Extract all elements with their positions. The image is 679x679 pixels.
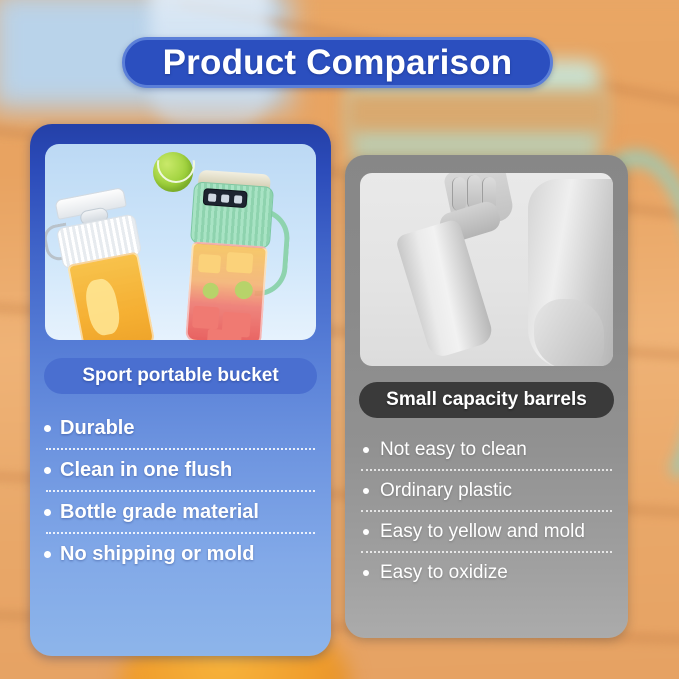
fruit-piece bbox=[192, 306, 219, 330]
list-item: Clean in one flush bbox=[44, 450, 317, 490]
list-item: Ordinary plastic bbox=[359, 471, 614, 510]
page-title-banner: Product Comparison bbox=[122, 37, 553, 88]
feature-list-small-capacity-barrels: Not easy to clean Ordinary plastic Easy … bbox=[355, 430, 618, 638]
green-blender-bottle bbox=[177, 169, 281, 340]
fruit-piece bbox=[202, 282, 219, 299]
comparison-card-sport-portable-bucket: Sport portable bucket Durable Clean in o… bbox=[30, 124, 331, 656]
product-name-pill-left: Sport portable bucket bbox=[44, 358, 317, 394]
fruit-piece bbox=[234, 281, 253, 300]
product-photo-small-capacity-barrels bbox=[360, 173, 613, 366]
list-item: Easy to oxidize bbox=[359, 553, 614, 592]
feature-text: Not easy to clean bbox=[380, 439, 527, 461]
product-name-left: Sport portable bucket bbox=[82, 365, 278, 387]
feature-text: No shipping or mold bbox=[60, 543, 254, 566]
sleeve-shape bbox=[528, 179, 613, 366]
feature-text: Clean in one flush bbox=[60, 459, 232, 482]
comparison-card-small-capacity-barrels: Small capacity barrels Not easy to clean… bbox=[345, 155, 628, 638]
bullet-icon bbox=[44, 425, 51, 432]
list-item: No shipping or mold bbox=[44, 534, 317, 574]
feature-text: Durable bbox=[60, 417, 134, 440]
bottle-display-panel bbox=[203, 188, 248, 208]
display-indicator-icon bbox=[208, 193, 217, 202]
bullet-icon bbox=[44, 509, 51, 516]
list-item: Bottle grade material bbox=[44, 492, 317, 532]
fruit-piece bbox=[207, 329, 242, 340]
gray-bottle-body bbox=[395, 218, 496, 360]
display-indicator-icon bbox=[221, 194, 230, 203]
feature-text: Bottle grade material bbox=[60, 501, 259, 524]
product-name-pill-right: Small capacity barrels bbox=[359, 382, 614, 418]
fruit-piece bbox=[198, 254, 221, 273]
list-item: Easy to yellow and mold bbox=[359, 512, 614, 551]
list-item: Not easy to clean bbox=[359, 430, 614, 469]
bullet-icon bbox=[363, 570, 369, 576]
bottle-jar-fruit bbox=[185, 241, 268, 340]
bullet-icon bbox=[363, 488, 369, 494]
white-blender-bottle bbox=[47, 185, 164, 340]
bullet-icon bbox=[363, 529, 369, 535]
feature-text: Ordinary plastic bbox=[380, 480, 512, 502]
bottle-jar-orange-juice bbox=[67, 251, 156, 340]
fruit-piece bbox=[226, 252, 253, 274]
bullet-icon bbox=[363, 447, 369, 453]
finger-shape bbox=[452, 177, 466, 211]
feature-text: Easy to yellow and mold bbox=[380, 521, 585, 543]
product-name-right: Small capacity barrels bbox=[386, 389, 587, 411]
page-title: Product Comparison bbox=[163, 43, 513, 83]
feature-text: Easy to oxidize bbox=[380, 562, 508, 584]
blurred-jar-lid bbox=[345, 90, 610, 134]
feature-list-sport-portable-bucket: Durable Clean in one flush Bottle grade … bbox=[38, 408, 323, 656]
display-indicator-icon bbox=[234, 195, 243, 204]
bullet-icon bbox=[44, 551, 51, 558]
bullet-icon bbox=[44, 467, 51, 474]
product-photo-sport-portable-bucket bbox=[45, 144, 316, 340]
list-item: Durable bbox=[44, 408, 317, 448]
